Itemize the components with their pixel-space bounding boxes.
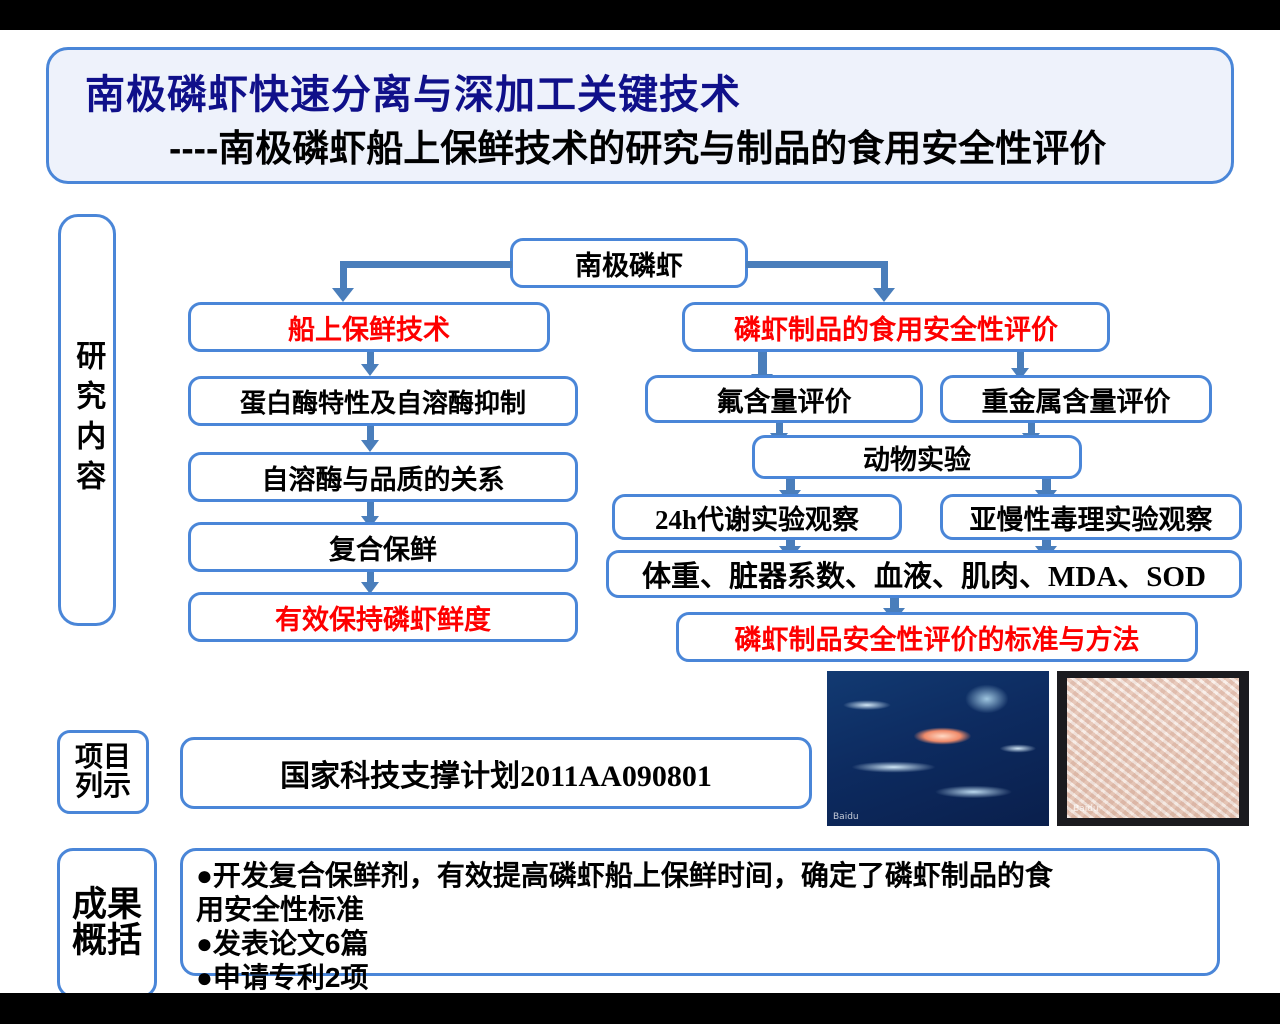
flow-node-autolysin-quality[interactable]: 自溶酶与品质的关系 — [188, 452, 578, 502]
slide-header: 南极磷虾快速分离与深加工关键技术 ----南极磷虾船上保鲜技术的研究与制品的食用… — [46, 47, 1234, 184]
connector-root-down-left — [340, 261, 347, 291]
arrow-root-to-right-branch — [873, 288, 895, 302]
flow-node-animal-experiment[interactable]: 动物实验 — [752, 435, 1082, 479]
flow-node-left-outcome[interactable]: 有效保持磷虾鲜度 — [188, 592, 578, 642]
arrow-root-to-left-branch — [332, 288, 354, 302]
section-label-project-text: 项目列示 — [72, 743, 134, 800]
top-letterbox-bar — [0, 0, 1280, 30]
flow-node-indicators[interactable]: 体重、脏器系数、血液、肌肉、MDA、SOD — [606, 550, 1242, 598]
page-title: 南极磷虾快速分离与深加工关键技术 — [85, 62, 741, 120]
connector-root-down-right — [881, 261, 888, 291]
arrow-left-1 — [361, 364, 379, 376]
results-line-4: ●申请专利2项 — [196, 961, 1216, 993]
photo-watermark-block: Baidu — [1073, 804, 1099, 814]
arrow-left-2 — [361, 440, 379, 452]
photo-antarctic-krill: Baidu — [827, 671, 1049, 826]
slide-canvas: 南极磷虾快速分离与深加工关键技术 ----南极磷虾船上保鲜技术的研究与制品的食用… — [0, 30, 1280, 993]
flow-node-toxicology-observation[interactable]: 亚慢性毒理实验观察 — [940, 494, 1242, 540]
flow-node-metabolic-observation[interactable]: 24h代谢实验观察 — [612, 494, 902, 540]
flow-node-safety-evaluation[interactable]: 磷虾制品的食用安全性评价 — [682, 302, 1110, 352]
flow-node-fluoride-evaluation[interactable]: 氟含量评价 — [645, 375, 923, 423]
photo-frozen-krill-block: Baidu — [1067, 678, 1239, 818]
flow-node-composite-preservation[interactable]: 复合保鲜 — [188, 522, 578, 572]
flow-node-onboard-preservation[interactable]: 船上保鲜技术 — [188, 302, 550, 352]
flow-node-protease-property[interactable]: 蛋白酶特性及自溶酶抑制 — [188, 376, 578, 426]
results-text: ●开发复合保鲜剂，有效提高磷虾船上保鲜时间，确定了磷虾制品的食 用安全性标准 ●… — [196, 859, 1216, 993]
flow-node-heavy-metal-evaluation[interactable]: 重金属含量评价 — [940, 375, 1212, 423]
results-line-1: ●开发复合保鲜剂，有效提高磷虾船上保鲜时间，确定了磷虾制品的食 — [196, 859, 1216, 893]
flow-node-right-outcome[interactable]: 磷虾制品安全性评价的标准与方法 — [676, 612, 1198, 662]
section-label-project: 项目列示 — [57, 730, 149, 814]
bottom-letterbox-bar — [0, 993, 1280, 1024]
photo-watermark-krill: Baidu — [833, 812, 859, 822]
section-label-results-text: 成果概括 — [68, 887, 146, 958]
section-label-results: 成果概括 — [57, 848, 157, 993]
project-grant-box[interactable]: 国家科技支撑计划2011AA090801 — [180, 737, 812, 809]
section-label-research: 研究内容 — [58, 214, 116, 626]
results-line-3: ●发表论文6篇 — [196, 927, 1216, 961]
connector-root-horizontal-left — [340, 261, 512, 268]
results-line-2: 用安全性标准 — [196, 893, 1216, 927]
page-subtitle: ----南极磷虾船上保鲜技术的研究与制品的食用安全性评价 — [169, 118, 1106, 172]
connector-root-horizontal-right — [746, 261, 888, 268]
flow-node-root[interactable]: 南极磷虾 — [510, 238, 748, 288]
